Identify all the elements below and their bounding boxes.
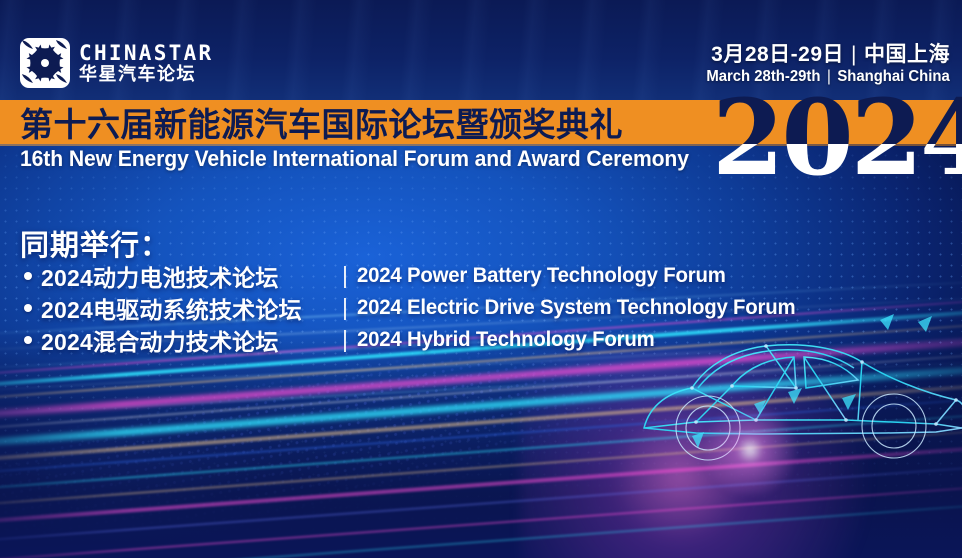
forum-name-en: 2024 Electric Drive System Technology Fo…	[357, 296, 795, 320]
forum-name-en: 2024 Power Battery Technology Forum	[357, 264, 726, 288]
forum-name-cn: 2024动力电池技术论坛	[41, 259, 333, 293]
brand-logo-text: CHINASTAR 华星汽车论坛	[79, 43, 214, 83]
event-date-cn-row: 3月28日-29日|中国上海	[688, 42, 950, 67]
light-streak	[0, 459, 962, 545]
list-item[interactable]: 2024混合动力技术论坛 | 2024 Hybrid Technology Fo…	[22, 326, 809, 353]
event-title-cn: 第十六届新能源汽车国际论坛暨颁奖典礼	[20, 100, 623, 144]
car-light-flare	[690, 405, 810, 495]
event-title-en: 16th New Energy Vehicle International Fo…	[20, 146, 689, 172]
brand-name-en: CHINASTAR	[79, 43, 214, 64]
forum-name-cn: 2024电驱动系统技术论坛	[41, 291, 333, 325]
bullet-icon	[24, 304, 32, 312]
event-date-en-row: March 28th-29th|Shanghai China	[707, 67, 950, 88]
brand-name-cn: 华星汽车论坛	[79, 65, 214, 83]
year-text-dark: 2024	[712, 92, 962, 144]
event-location-cn: 中国上海	[864, 43, 950, 66]
year-2024-graphic: 2024 2024	[712, 92, 962, 190]
event-banner: CHINASTAR 华星汽车论坛 3月28日-29日|中国上海 March 28…	[0, 0, 962, 558]
date-separator-en: |	[821, 67, 838, 88]
forum-separator: |	[333, 262, 357, 289]
event-date-cn: 3月28日-29日	[711, 43, 844, 66]
year-top-half: 2024	[712, 92, 962, 144]
brand-logo[interactable]: CHINASTAR 华星汽车论坛	[20, 38, 214, 88]
forum-name-cn: 2024混合动力技术论坛	[41, 323, 333, 357]
date-separator-cn: |	[844, 42, 864, 67]
event-location-en: Shanghai China	[838, 68, 950, 85]
year-bottom-half: 2024	[712, 144, 962, 190]
list-item[interactable]: 2024电驱动系统技术论坛 | 2024 Electric Drive Syst…	[22, 294, 809, 321]
chinastar-flower-logo-icon	[20, 38, 70, 88]
list-item[interactable]: 2024动力电池技术论坛 | 2024 Power Battery Techno…	[22, 262, 809, 289]
light-streak	[0, 439, 962, 527]
event-date-en: March 28th-29th	[707, 68, 821, 85]
bullet-icon	[24, 336, 32, 344]
forum-separator: |	[333, 294, 357, 321]
forum-name-en: 2024 Hybrid Technology Forum	[357, 328, 655, 352]
forum-separator: |	[333, 326, 357, 353]
concurrent-forum-list: 2024动力电池技术论坛 | 2024 Power Battery Techno…	[22, 262, 809, 353]
bullet-icon	[24, 272, 32, 280]
year-text-light: 2024	[712, 144, 962, 190]
event-date-location: 3月28日-29日|中国上海 March 28th-29th|Shanghai …	[688, 42, 950, 88]
